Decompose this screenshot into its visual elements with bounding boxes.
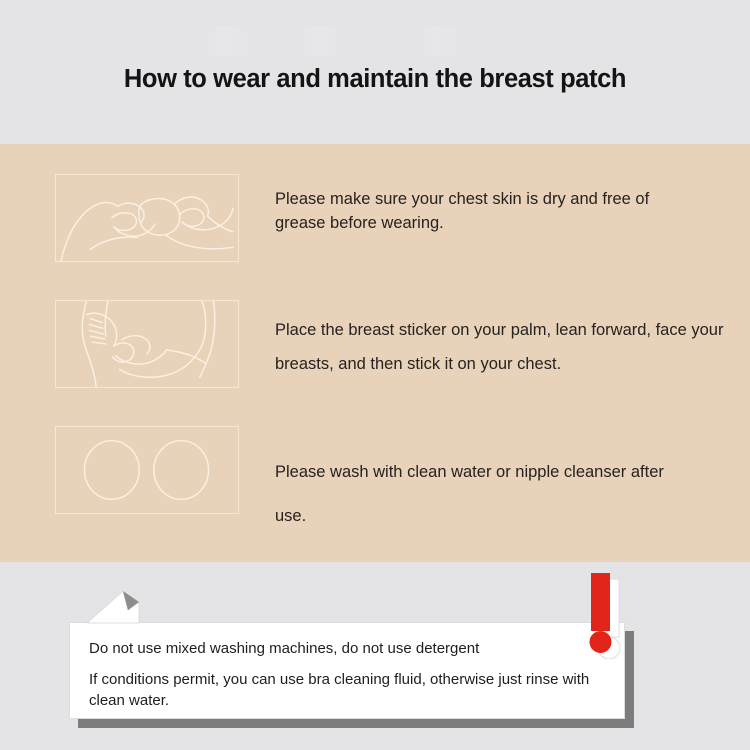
- steps-section: Please make sure your chest skin is dry …: [0, 144, 750, 562]
- two-hands-holding-patch-illustration: [55, 174, 239, 262]
- callout-line-secondary: If conditions permit, you can use bra cl…: [89, 669, 599, 711]
- exclamation-mark-warning-icon: [583, 573, 633, 659]
- step-text: Please wash with clean water or nipple c…: [275, 450, 675, 538]
- two-breast-patches-illustration: [55, 426, 239, 514]
- instruction-page: How to wear and maintain the breast patc…: [0, 0, 750, 750]
- step-text: Place the breast sticker on your palm, l…: [275, 313, 725, 381]
- callout-text: Do not use mixed washing machines, do no…: [89, 638, 599, 711]
- warning-callout: Do not use mixed washing machines, do no…: [69, 622, 625, 719]
- callout-pointer-tab: [87, 590, 149, 624]
- step-text: Please make sure your chest skin is dry …: [275, 187, 700, 235]
- callout-line-primary: Do not use mixed washing machines, do no…: [89, 638, 599, 659]
- page-title: How to wear and maintain the breast patc…: [0, 65, 750, 94]
- hand-applying-patch-to-chest-illustration: [55, 300, 239, 388]
- header-watermark: [205, 26, 555, 56]
- header-band: How to wear and maintain the breast patc…: [0, 0, 750, 144]
